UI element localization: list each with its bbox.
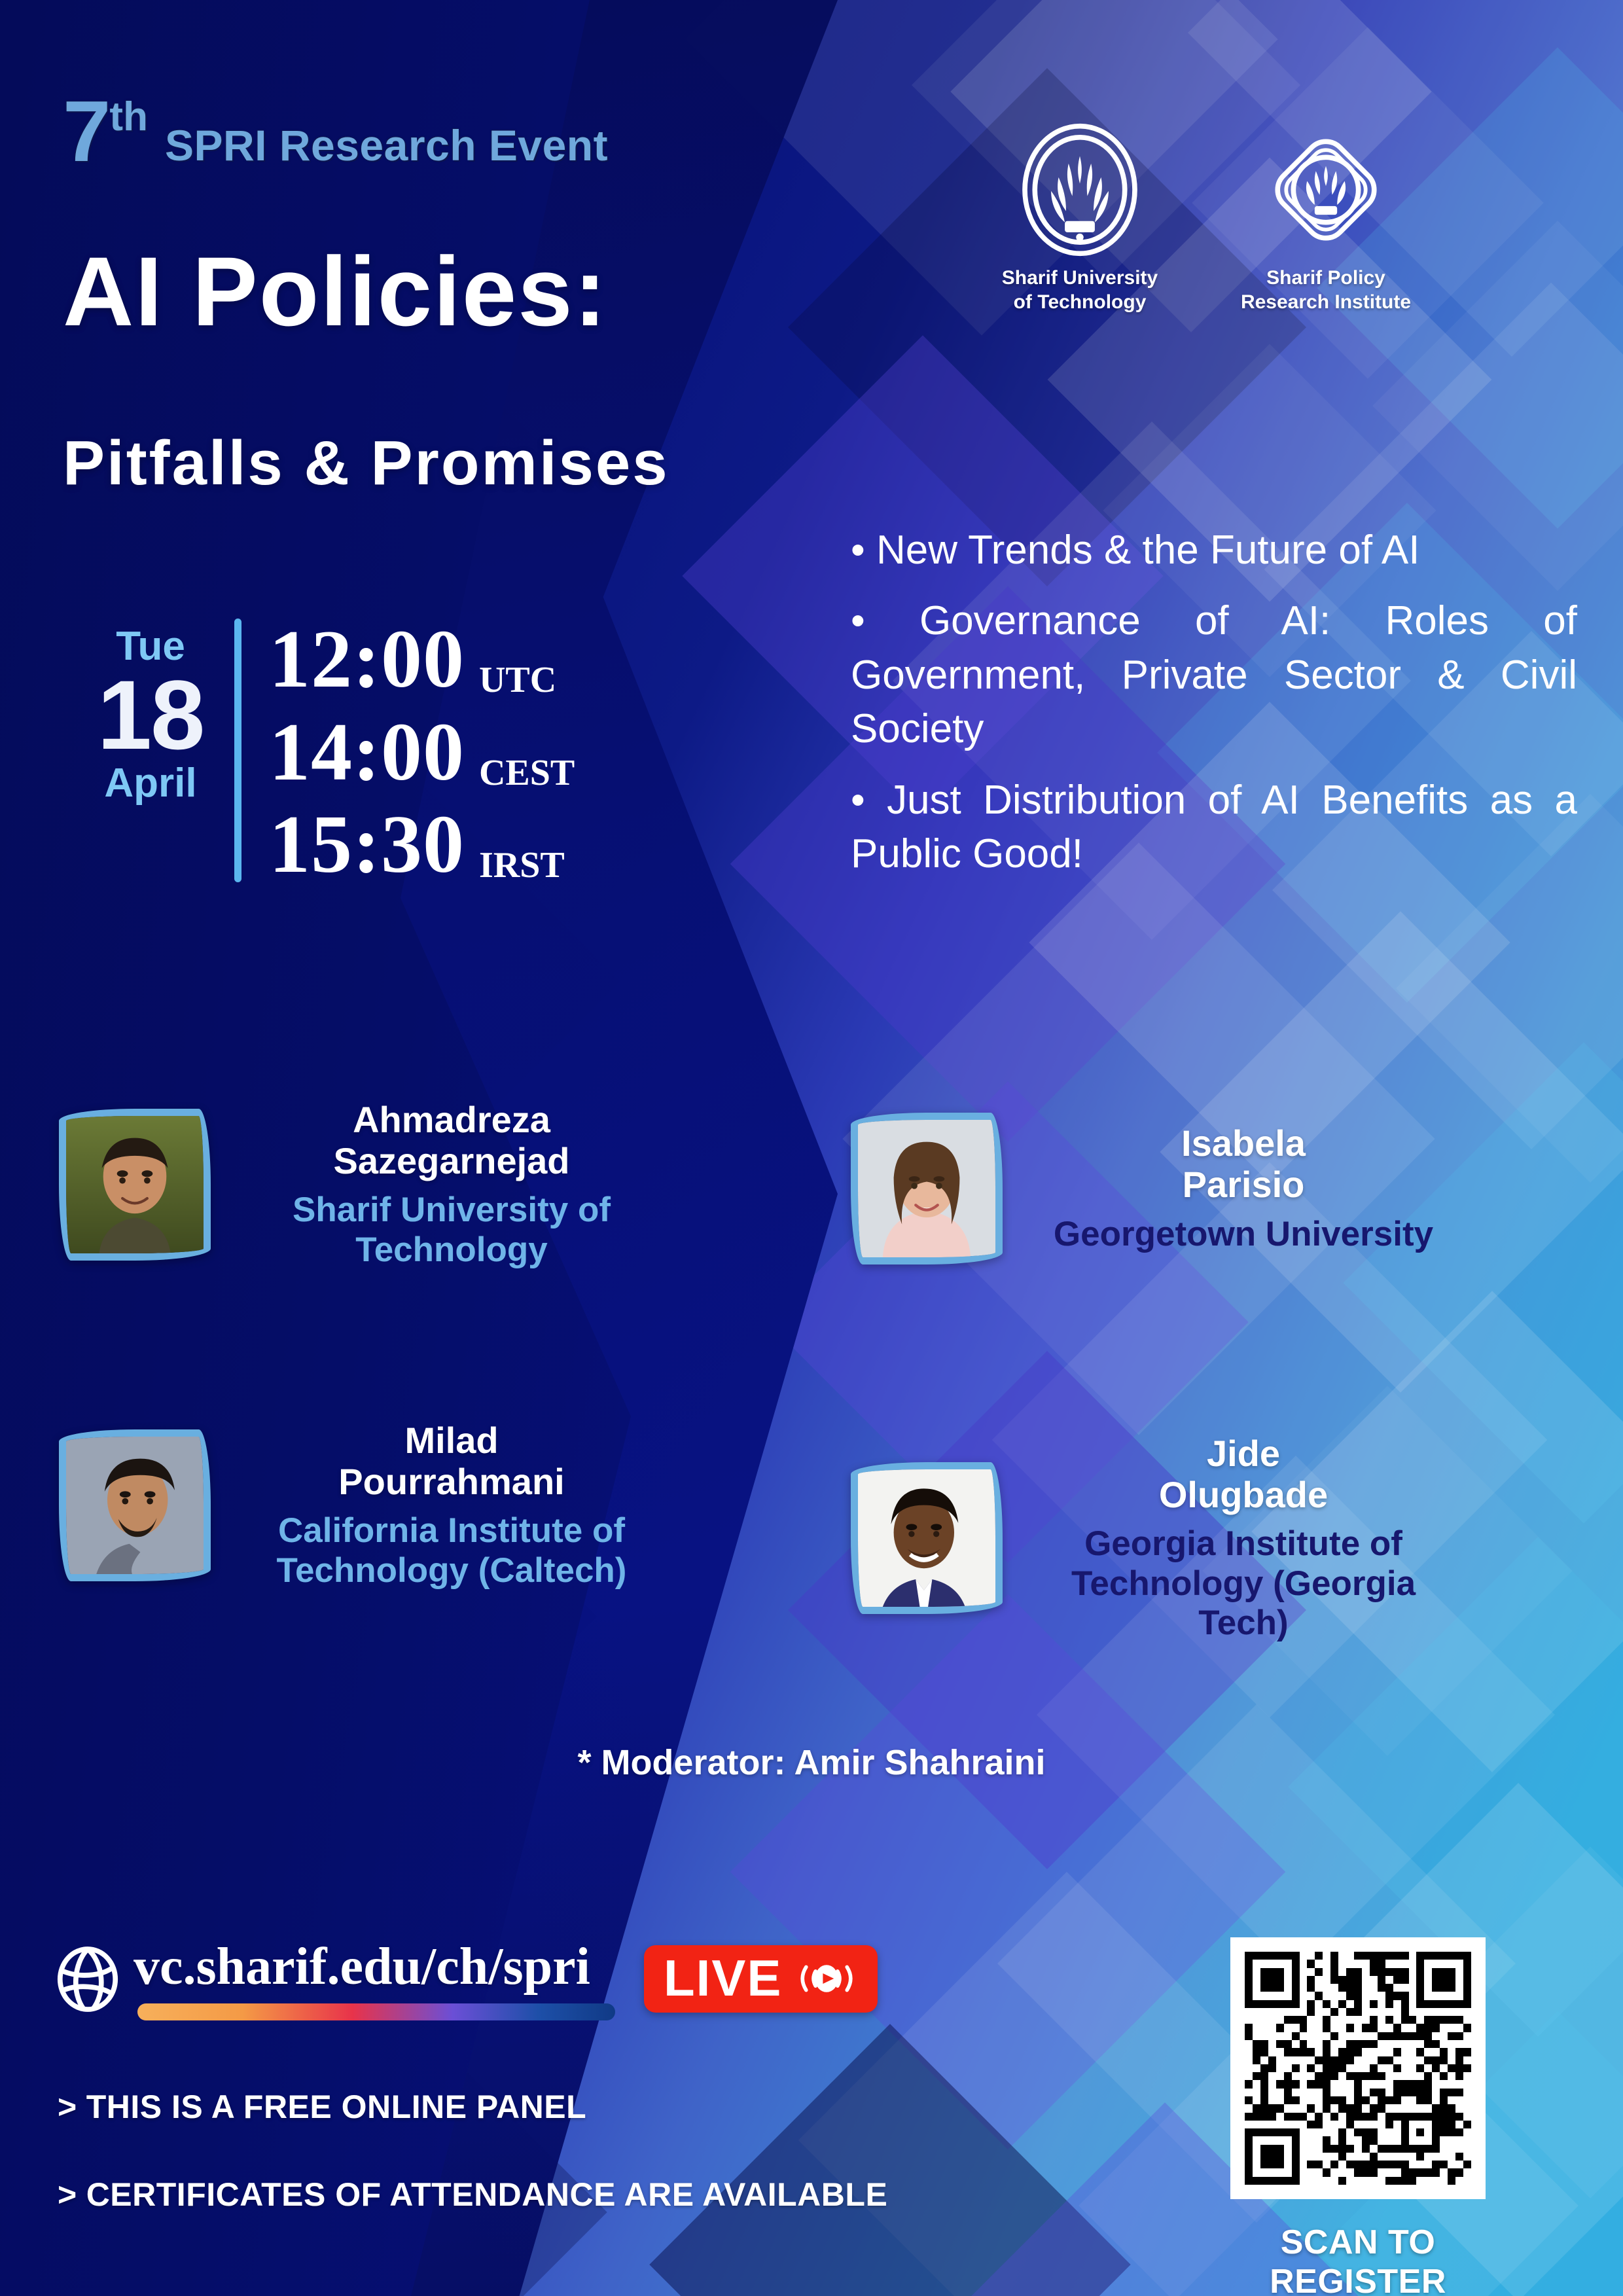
logo-caption-line1: Sharif Policy <box>1228 266 1424 291</box>
logo-caption: Sharif University of Technology <box>982 266 1178 314</box>
ordinal-suffix: th <box>109 97 148 137</box>
event-datetime: Tue 18 April 12:00 UTC 14:00 CEST 15:30 … <box>85 612 575 894</box>
speaker-photo <box>66 1116 204 1253</box>
speaker-name: Ahmadreza Sazegarnejad <box>236 1100 668 1181</box>
avatar <box>59 1109 211 1261</box>
note-item: >CERTIFICATES OF ATTENDANCE ARE AVAILABL… <box>58 2176 887 2214</box>
timezone-list: 12:00 UTC 14:00 CEST 15:30 IRST <box>269 612 575 894</box>
notes-list: >THIS IS A FREE ONLINE PANEL >CERTIFICAT… <box>58 2088 887 2263</box>
day-number: 18 <box>85 668 216 762</box>
time-row: 15:30 IRST <box>269 801 575 889</box>
series-name: SPRI Research Event <box>165 120 608 170</box>
speaker-last-name: Olugbade <box>1027 1475 1459 1516</box>
note-text: CERTIFICATES OF ATTENDANCE ARE AVAILABLE <box>86 2176 888 2213</box>
note-item: >THIS IS A FREE ONLINE PANEL <box>58 2088 887 2126</box>
time-row: 12:00 UTC <box>269 616 575 704</box>
chevron-right-icon: > <box>58 2089 77 2125</box>
live-label: LIVE <box>664 1954 782 2002</box>
note-text: THIS IS A FREE ONLINE PANEL <box>86 2089 586 2125</box>
time-row: 14:00 CEST <box>269 709 575 797</box>
speaker-info: Milad Pourrahmani California Institute o… <box>236 1420 668 1590</box>
time-zone: UTC <box>479 659 556 701</box>
live-badge[interactable]: LIVE <box>644 1945 878 2013</box>
moderator-line: * Moderator: Amir Shahraini <box>0 1742 1623 1783</box>
gradient-underline <box>137 2003 615 2020</box>
speaker-info: Jide Olugbade Georgia Institute of Techn… <box>1027 1433 1459 1643</box>
speaker-last-name: Sazegarnejad <box>236 1141 668 1182</box>
speaker-affiliation: Georgetown University <box>1027 1215 1459 1254</box>
qr-register-block[interactable]: SCAN TO REGISTER <box>1230 1937 1486 2296</box>
organization-logos: Sharif University of Technology <box>982 121 1424 314</box>
logo-caption-line2: Research Institute <box>1228 291 1424 315</box>
time-zone: IRST <box>479 844 565 886</box>
speaker-card-milad-pourrahmani: Milad Pourrahmani California Institute o… <box>59 1420 668 1590</box>
speaker-first-name: Milad <box>236 1420 668 1462</box>
topic-item: Just Distribution of AI Benefits as a Pu… <box>851 774 1577 882</box>
speaker-info: Ahmadreza Sazegarnejad Sharif University… <box>236 1100 668 1270</box>
speaker-first-name: Ahmadreza <box>236 1100 668 1141</box>
logo-caption: Sharif Policy Research Institute <box>1228 266 1424 314</box>
page-title: AI Policies: <box>63 242 608 340</box>
time-value: 15:30 <box>269 801 465 889</box>
sharif-crest-oval-icon <box>1011 121 1149 259</box>
event-poster: 7 th SPRI Research Event AI Policies: Pi… <box>0 0 1623 2296</box>
logo-sharif-policy-research-institute: Sharif Policy Research Institute <box>1228 121 1424 314</box>
scan-to-register-label: SCAN TO REGISTER <box>1230 2223 1486 2296</box>
qr-code-icon[interactable] <box>1245 1952 1471 2185</box>
speaker-card-ahmadreza-sazegarnejad: Ahmadreza Sazegarnejad Sharif University… <box>59 1100 668 1270</box>
page-subtitle: Pitfalls & Promises <box>63 432 669 495</box>
month-name: April <box>85 762 216 804</box>
vertical-divider <box>234 619 241 882</box>
speaker-affiliation: Sharif University of Technology <box>236 1191 668 1270</box>
logo-caption-line2: of Technology <box>982 291 1178 315</box>
stream-url-block[interactable]: vc.sharif.edu/ch/spri <box>134 1937 615 2020</box>
chevron-right-icon: > <box>58 2176 77 2213</box>
event-date: Tue 18 April <box>85 612 216 894</box>
sharif-crest-diamond-icon <box>1257 121 1395 259</box>
speaker-photo <box>66 1437 204 1574</box>
topics-list: New Trends & the Future of AI Governance… <box>851 524 1577 899</box>
time-zone: CEST <box>479 752 575 794</box>
topic-item: New Trends & the Future of AI <box>851 524 1577 577</box>
speaker-photo <box>858 1469 995 1607</box>
logo-caption-line1: Sharif University <box>982 266 1178 291</box>
time-value: 12:00 <box>269 616 465 704</box>
avatar <box>851 1113 1003 1265</box>
speaker-info: Isabela Parisio Georgetown University <box>1027 1123 1459 1254</box>
speaker-first-name: Jide <box>1027 1433 1459 1475</box>
ordinal-number: 7 <box>63 92 109 171</box>
speaker-card-isabela-parisio: Isabela Parisio Georgetown University <box>851 1113 1459 1265</box>
speaker-first-name: Isabela <box>1027 1123 1459 1164</box>
avatar <box>59 1429 211 1581</box>
speaker-last-name: Parisio <box>1027 1164 1459 1206</box>
speaker-card-jide-olugbade: Jide Olugbade Georgia Institute of Techn… <box>851 1433 1459 1643</box>
speaker-name: Jide Olugbade <box>1027 1433 1459 1515</box>
speaker-name: Milad Pourrahmani <box>236 1420 668 1502</box>
event-series-kicker: 7 th SPRI Research Event <box>63 92 608 171</box>
live-broadcast-icon <box>793 1956 861 2001</box>
qr-frame <box>1230 1937 1486 2199</box>
avatar <box>851 1462 1003 1614</box>
speaker-name: Isabela Parisio <box>1027 1123 1459 1205</box>
logo-sharif-university: Sharif University of Technology <box>982 121 1178 314</box>
time-value: 14:00 <box>269 709 465 797</box>
globe-icon[interactable] <box>56 1945 119 2013</box>
speaker-affiliation: Georgia Institute of Technology (Georgia… <box>1027 1524 1459 1643</box>
speaker-affiliation: California Institute of Technology (Calt… <box>236 1511 668 1590</box>
speaker-last-name: Pourrahmani <box>236 1462 668 1503</box>
stream-url[interactable]: vc.sharif.edu/ch/spri <box>134 1937 615 1997</box>
topic-item: Governance of AI: Roles of Government, P… <box>851 594 1577 756</box>
speaker-photo <box>858 1120 995 1257</box>
stream-link-row: vc.sharif.edu/ch/spri LIVE <box>56 1937 878 2020</box>
